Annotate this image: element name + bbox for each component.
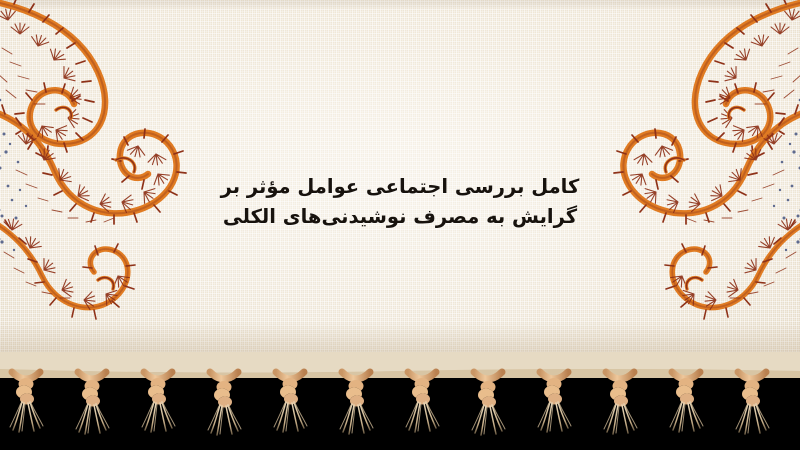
slide-title: کامل بررسی اجتماعی عوامل مؤثر بر گرایش ب… bbox=[0, 172, 800, 232]
title-line-2: گرایش به مصرف نوشیدنی‌های الکلی bbox=[0, 202, 800, 232]
tassel-fringe bbox=[0, 352, 800, 450]
paisley-ornament-left bbox=[0, 0, 286, 342]
slide-canvas: کامل بررسی اجتماعی عوامل مؤثر بر گرایش ب… bbox=[0, 0, 800, 450]
paisley-ornament-right bbox=[514, 0, 800, 342]
title-line-1: کامل بررسی اجتماعی عوامل مؤثر بر bbox=[0, 172, 800, 202]
